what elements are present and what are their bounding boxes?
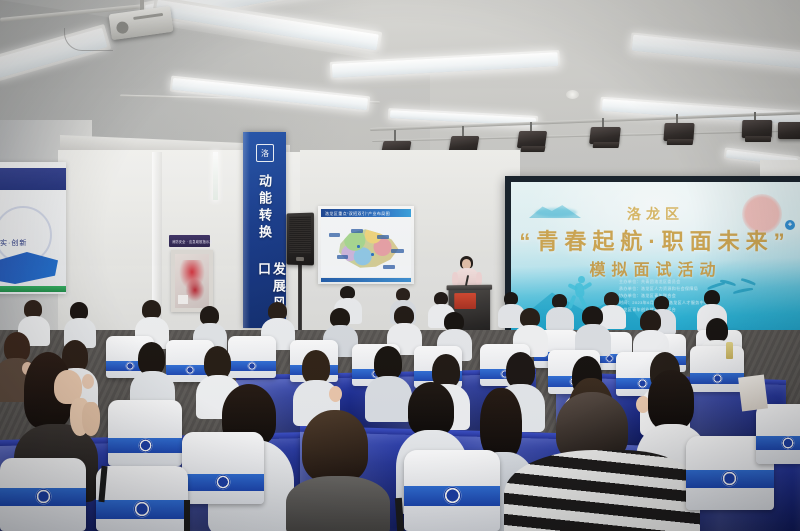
applauding-hand <box>82 374 94 389</box>
map-label <box>383 265 395 269</box>
paper-stack <box>738 375 768 412</box>
poster-top-band <box>0 168 66 190</box>
map-label <box>351 229 363 233</box>
striped-shirt <box>504 450 700 531</box>
poster-footer-band <box>0 286 66 292</box>
map-poster-header-text: 洛龙区重点“双招双引”产业布局图 <box>325 211 409 217</box>
map-marker-dot <box>357 245 360 248</box>
pa-speaker-badge <box>296 257 304 261</box>
left-poster-text: 务实·创新 <box>0 238 27 248</box>
smoke-detector-icon <box>566 90 579 99</box>
podium-top <box>447 285 493 291</box>
wall-light-slot <box>213 152 218 200</box>
map-label <box>329 233 340 237</box>
screen-sub-line: 模拟面试活动 <box>511 256 800 280</box>
screen-body-line: 承办单位：洛龙区人力资源和社会保障局 <box>619 285 739 292</box>
chair-leg <box>184 500 190 531</box>
map-poster-footer <box>321 278 411 282</box>
left-wall-poster: 务实·创新 <box>0 162 66 294</box>
banner-logo: 洛 <box>256 144 274 162</box>
poster-red-graphic-2 <box>185 278 205 302</box>
screen-main-line: “青春起航·职面未来” <box>511 224 800 256</box>
wall-plaque: 消防安全 · 应急疏散指示及逃生路线图 <box>169 235 210 247</box>
poster-caption-block <box>178 295 188 304</box>
framed-poster-image <box>175 254 209 308</box>
banner-edge-light <box>243 132 250 328</box>
map-poster-header: 洛龙区重点“双招双引”产业布局图 <box>321 209 411 217</box>
screen-body-line: 时间：2023年6月 地点：洛龙区人才服务中心 <box>619 299 739 306</box>
wall-plaque-text: 消防安全 · 应急疏散指示及逃生路线图 <box>172 239 212 244</box>
presenter-arm-left <box>452 272 458 286</box>
map-marker-dot <box>371 253 374 256</box>
map-label <box>377 235 389 239</box>
blue-vertical-banner: 洛 动能转换 发展风口 <box>243 132 286 328</box>
screen-body-line: 协办单位：洛龙区青年联合会 <box>619 292 739 299</box>
pa-speaker-grille <box>289 216 311 253</box>
podium-front-panel <box>454 293 476 309</box>
banner-line-one: 动能转换 <box>256 174 271 254</box>
projector-cable <box>64 28 113 51</box>
map-poster-body <box>321 219 411 277</box>
water-bottle <box>726 342 733 359</box>
pa-speaker <box>286 213 313 266</box>
map-label <box>337 255 348 259</box>
applauding-hand <box>329 386 342 402</box>
screen-title-line: 洛龙区 <box>511 204 800 224</box>
platform-badge-icon: ✚ <box>785 220 795 230</box>
projector-lens <box>116 21 130 35</box>
framed-poster <box>171 250 213 312</box>
region-map-poster: 洛龙区重点“双招双引”产业布局图 <box>318 206 414 284</box>
conference-room-photo: 务实·创新 消防安全 · 应急疏散指示及逃生路线图 洛 动能转换 发展风口 洛龙… <box>0 0 800 531</box>
applauding-hand <box>82 402 100 436</box>
screen-body-line: 主办单位：共青团洛龙区委员会 <box>619 278 739 285</box>
map-label <box>391 249 404 253</box>
running-figure-graphic <box>567 276 593 310</box>
pa-speaker-pole <box>298 262 302 340</box>
